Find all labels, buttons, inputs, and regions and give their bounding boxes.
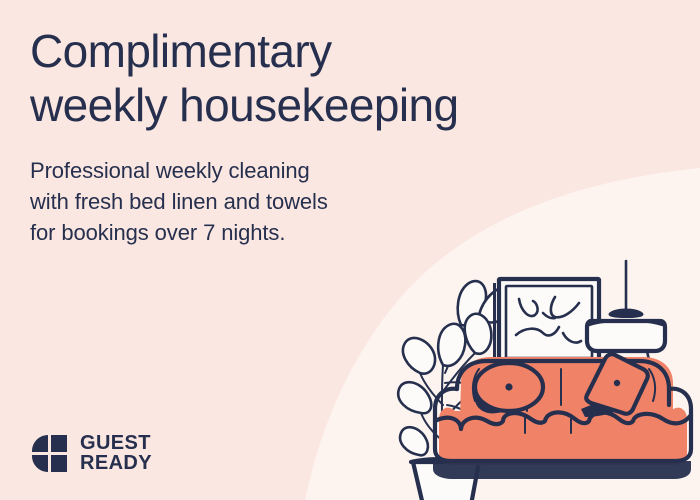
brand-logo[interactable]: GUEST READY	[31, 434, 152, 474]
promo-card: Complimentary weekly housekeeping Profes…	[0, 0, 700, 500]
page-title: Complimentary weekly housekeeping	[30, 24, 630, 133]
framed-artwork	[493, 279, 599, 370]
subtitle-text: Professional weekly cleaning with fresh …	[30, 155, 630, 249]
guestready-quadrant-mark-icon	[31, 434, 69, 474]
brand-wordmark: GUEST READY	[80, 434, 152, 473]
copy-block: Complimentary weekly housekeeping Profes…	[30, 24, 630, 248]
living-room-illustration: .ink { fill: none; stroke: #26304E; stro…	[395, 255, 695, 500]
coral-sofa	[433, 354, 691, 479]
logo-line-ready: READY	[80, 454, 152, 474]
round-cushion	[473, 363, 543, 413]
